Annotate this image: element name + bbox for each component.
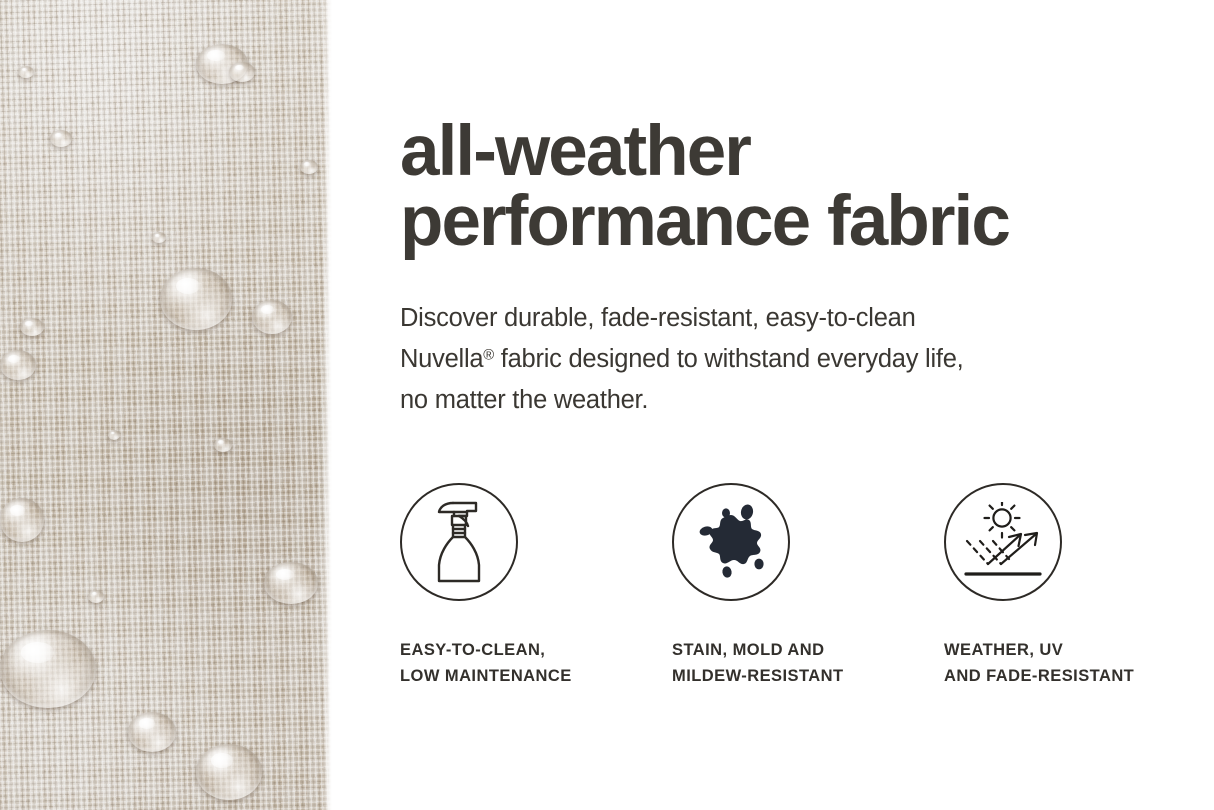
water-droplet — [0, 498, 44, 542]
subcopy-line-1: Discover durable, fade-resistant, easy-t… — [400, 304, 916, 332]
water-droplet — [18, 66, 34, 78]
water-droplet — [252, 300, 292, 334]
page-title: all-weather performance fabric — [400, 117, 1009, 258]
water-droplet — [50, 130, 72, 147]
water-droplet — [20, 318, 44, 336]
feature-item-easy-to-clean: EASY-TO-CLEAN, LOW MAINTENANCE — [400, 483, 672, 689]
icon-circle — [944, 483, 1062, 601]
stain-splat-icon — [690, 501, 772, 583]
feature-caption: STAIN, MOLD AND MILDEW-RESISTANT — [672, 638, 844, 689]
water-droplet — [214, 438, 232, 452]
feature-item-weather-uv-resistant: WEATHER, UV AND FADE-RESISTANT — [944, 483, 1190, 689]
feature-list: EASY-TO-CLEAN, LOW MAINTENANCE — [400, 483, 1190, 689]
brand-name: Nuvella — [400, 345, 483, 373]
feature-item-stain-resistant: STAIN, MOLD AND MILDEW-RESISTANT — [672, 483, 944, 689]
subcopy: Discover durable, fade-resistant, easy-t… — [400, 298, 1160, 420]
water-droplet — [300, 160, 318, 174]
subcopy-line-2: fabric designed to withstand everyday li… — [494, 345, 964, 373]
photo-edge-fade — [322, 0, 332, 810]
feature-caption: EASY-TO-CLEAN, LOW MAINTENANCE — [400, 638, 572, 689]
water-droplet — [196, 744, 262, 800]
registered-mark: ® — [483, 347, 494, 363]
water-droplet — [0, 630, 96, 708]
feature-caption: WEATHER, UV AND FADE-RESISTANT — [944, 638, 1134, 689]
water-droplet — [229, 62, 255, 82]
fabric-photo — [0, 0, 332, 810]
sun-uv-reflect-icon — [960, 502, 1046, 582]
water-droplet — [108, 430, 120, 440]
all-weather-fabric-banner: all-weather performance fabric Discover … — [0, 0, 1214, 810]
water-droplets — [0, 0, 332, 810]
water-droplet — [88, 590, 104, 603]
spray-bottle-icon — [423, 499, 495, 585]
water-droplet — [264, 562, 318, 604]
water-droplet — [160, 268, 232, 330]
icon-circle — [672, 483, 790, 601]
water-droplet — [0, 350, 36, 380]
water-droplet — [128, 712, 176, 752]
icon-circle — [400, 483, 518, 601]
subcopy-line-3: no matter the weather. — [400, 386, 648, 414]
content-pane: all-weather performance fabric Discover … — [332, 0, 1214, 810]
water-droplet — [152, 232, 166, 243]
